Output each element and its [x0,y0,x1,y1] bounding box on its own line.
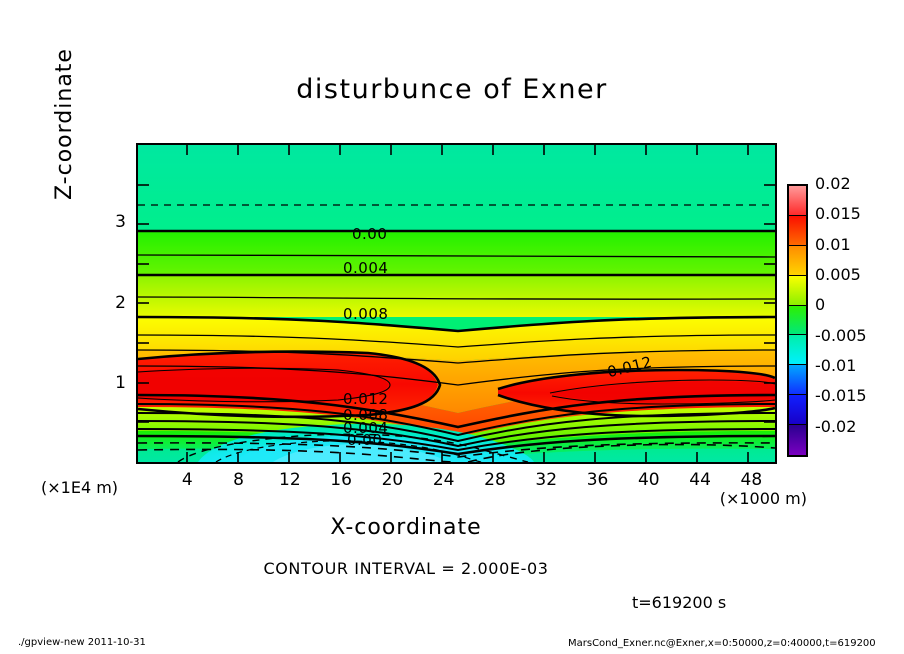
x-tick-label: 20 [372,470,412,490]
x-tick-label: 4 [167,470,207,490]
x-axis-units: (×1000 m) [720,489,807,508]
colorbar-band [789,335,806,365]
colorbar [787,184,808,457]
x-tick-label: 36 [578,470,618,490]
plot-canvas: disturbunce of Exner [0,0,904,654]
y-axis-units: (×1E4 m) [41,478,118,497]
colorbar-tick-label: 0.015 [815,206,861,222]
y-tick-label: 3 [92,212,126,232]
colorbar-tick-label: -0.02 [815,419,856,435]
time-annotation: t=619200 s [632,593,726,612]
colorbar-band [789,276,806,306]
colorbar-tick-label: 0.01 [815,237,851,253]
colorbar-band [789,186,806,216]
colorbar-band [789,216,806,246]
colorbar-tick-label: 0.005 [815,267,861,283]
x-tick-label: 28 [475,470,515,490]
x-tick-label: 16 [321,470,361,490]
y-tick-label: 2 [92,293,126,313]
contour-interval-note: CONTOUR INTERVAL = 2.000E-03 [0,559,858,578]
footer-source: MarsCond_Exner.nc@Exner,x=0:50000,z=0:40… [568,638,876,649]
colorbar-band [789,365,806,395]
colorbar-band [789,306,806,336]
colorbar-tick-label: -0.01 [815,358,856,374]
colorbar-tick-label: -0.015 [815,388,867,404]
x-axis-title: X-coordinate [0,515,858,540]
contour-field [138,145,775,462]
contour-label: 0.00 [347,431,382,449]
contour-label: 0.008 [343,305,388,323]
contour-label: 0.00 [352,225,387,243]
x-tick-label: 8 [219,470,259,490]
y-axis-title: Z-coordinate [52,48,77,200]
y-tick-label: 1 [92,373,126,393]
colorbar-tick-label: -0.005 [815,328,867,344]
colorbar-tick-label: 0 [815,297,825,313]
colorbar-band [789,246,806,276]
colorbar-tick-label: 0.02 [815,176,851,192]
x-tick-label: 32 [526,470,566,490]
page-title: disturbunce of Exner [0,74,904,105]
footer-command: ./gpview-new 2011-10-31 [18,637,146,648]
x-tick-label: 24 [424,470,464,490]
x-tick-label: 12 [270,470,310,490]
x-tick-label: 40 [629,470,669,490]
colorbar-band [789,395,806,425]
x-tick-label: 44 [680,470,720,490]
x-tick-label: 48 [731,470,771,490]
colorbar-band [789,425,806,455]
contour-label: 0.004 [343,259,388,277]
contour-plot-area [136,143,777,464]
